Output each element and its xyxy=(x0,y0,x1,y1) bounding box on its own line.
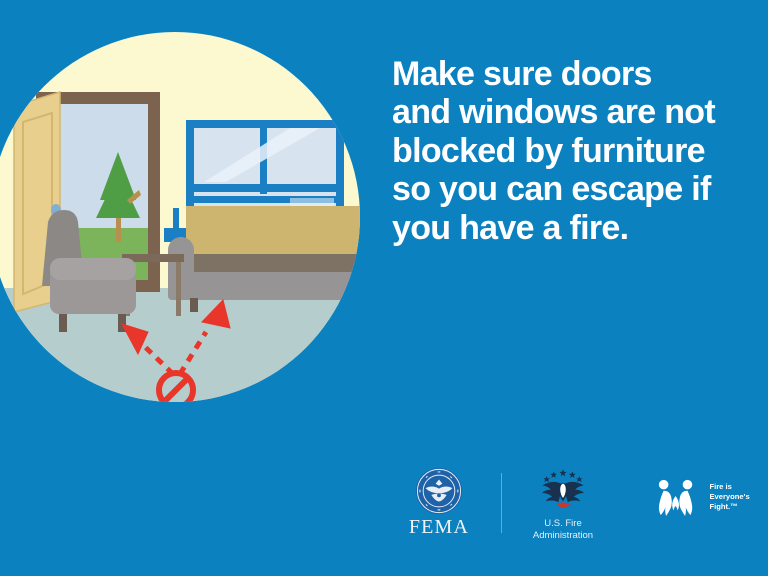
page-title: Make sure doors and windows are not bloc… xyxy=(392,55,752,247)
dhs-seal-icon xyxy=(415,467,463,515)
headline-line-3: blocked by furniture xyxy=(392,132,752,170)
logo-divider xyxy=(501,473,502,533)
fief-line-3: Fight.™ xyxy=(709,502,761,512)
sofa xyxy=(168,206,360,312)
armchair-leg xyxy=(59,314,67,332)
headline-line-5: you have a fire. xyxy=(392,209,752,247)
footer-logos: FEMA xyxy=(390,465,756,555)
fema-wordmark: FEMA xyxy=(398,517,480,537)
poster-root: Make sure doors and windows are not bloc… xyxy=(0,0,768,576)
fief-line-1: Fire is xyxy=(709,482,761,492)
fief-trademark: ™ xyxy=(730,502,738,511)
fief-wordmark: Fire is Everyone's Fight.™ xyxy=(709,482,761,512)
fief-figures-icon xyxy=(653,477,701,517)
fire-is-everyones-fight-logo: Fire is Everyone's Fight.™ xyxy=(653,477,763,517)
usfa-line-1: U.S. Fire xyxy=(515,518,611,530)
fief-line-2: Everyone's xyxy=(709,492,761,502)
illustration-svg xyxy=(0,32,360,402)
usfa-eagle-icon xyxy=(535,467,591,515)
usfa-wordmark: U.S. Fire Administration xyxy=(515,518,611,541)
fema-logo: FEMA xyxy=(398,467,480,537)
fief-line-3-text: Fight. xyxy=(709,502,730,511)
usfa-line-2: Administration xyxy=(515,530,611,542)
usfa-logo: U.S. Fire Administration xyxy=(515,467,611,541)
living-room-illustration xyxy=(0,32,360,402)
sofa-leg xyxy=(190,298,198,312)
headline-line-1: Make sure doors xyxy=(392,55,752,93)
headline-line-2: and windows are not xyxy=(392,93,752,131)
headline-line-4: so you can escape if xyxy=(392,170,752,208)
